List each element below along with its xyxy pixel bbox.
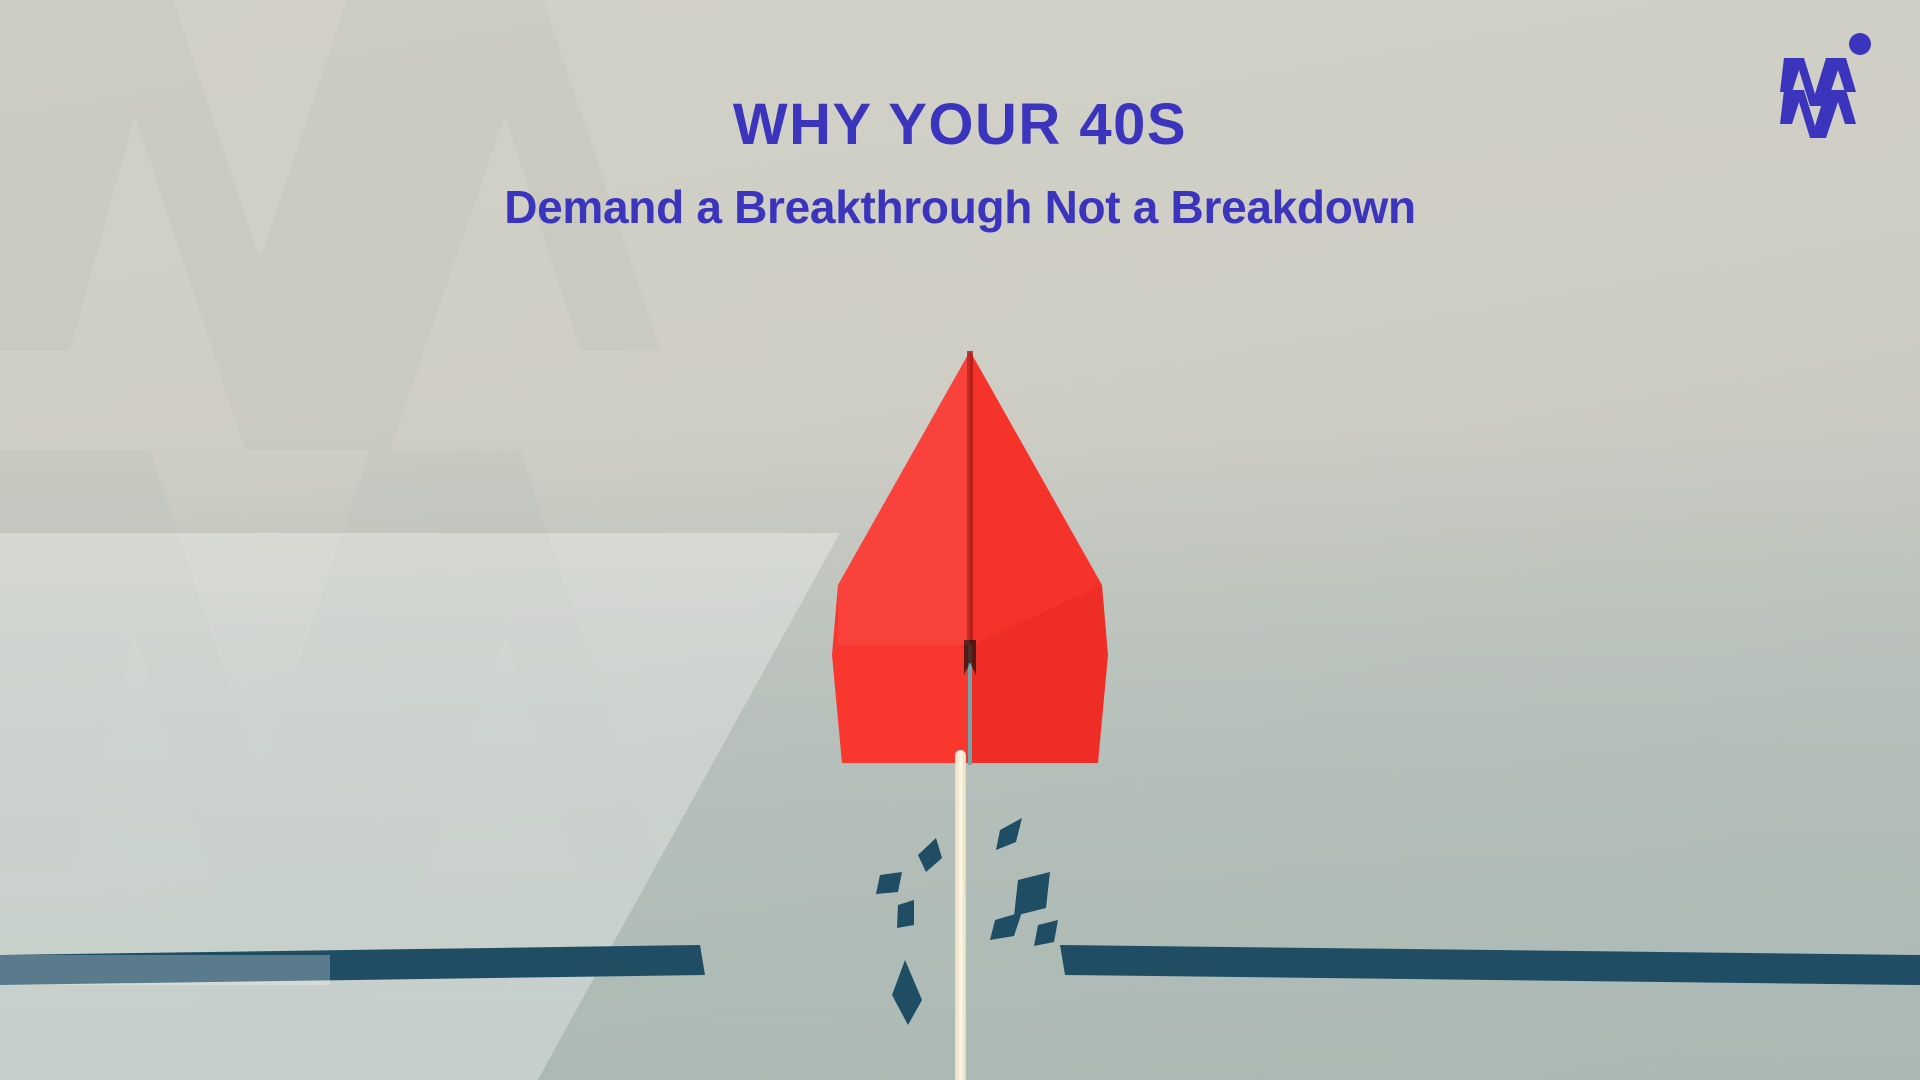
lower-background-wash [0,430,1920,1080]
poster-canvas: WHY YOUR 40S Demand a Breakthrough Not a… [0,0,1920,1080]
wooden-stick [955,750,966,1080]
headline-block: WHY YOUR 40S Demand a Breakthrough Not a… [0,96,1920,230]
page-subtitle: Demand a Breakthrough Not a Breakdown [0,184,1920,230]
page-title: WHY YOUR 40S [0,96,1920,154]
ww-logo[interactable] [1770,28,1874,138]
glass-panel [0,533,840,1080]
red-paper-plane [820,345,1120,765]
